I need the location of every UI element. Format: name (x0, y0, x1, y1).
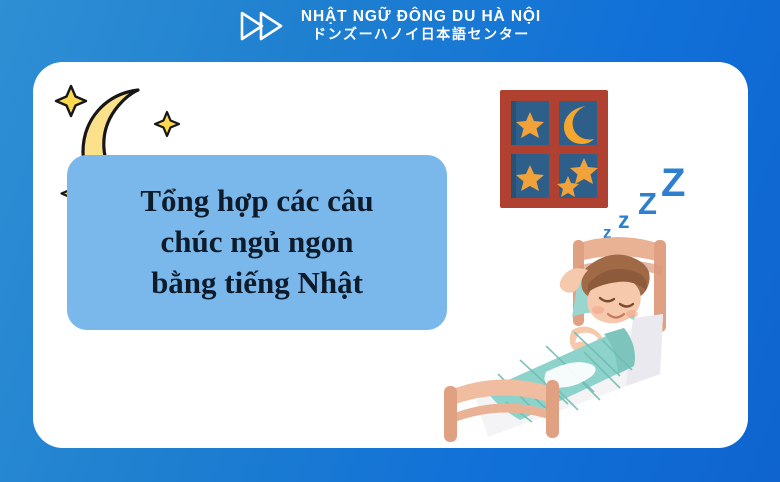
zzz-letter: Z (638, 186, 657, 221)
title-line-2: chúc ngủ ngon (161, 222, 354, 263)
brand-inner: NHẬT NGỮ ĐÔNG DU HÀ NỘI ドンズーハノイ日本語センター (239, 8, 541, 43)
brand-text-block: NHẬT NGỮ ĐÔNG DU HÀ NỘI ドンズーハノイ日本語センター (301, 9, 541, 43)
pane-shadow (511, 101, 516, 145)
child-sleeping-in-bed-illustration (428, 222, 688, 447)
banner-root: NHẬT NGỮ ĐÔNG DU HÀ NỘI ドンズーハノイ日本語センター (0, 0, 780, 482)
child-blush (626, 310, 638, 318)
content-card: z z Z Z (33, 62, 748, 448)
brand-name-vi: NHẬT NGỮ ĐÔNG DU HÀ NỘI (301, 9, 541, 25)
title-line-1: Tổng hợp các câu (140, 181, 373, 222)
pane-shadow (511, 154, 516, 198)
brand-header: NHẬT NGỮ ĐÔNG DU HÀ NỘI ドンズーハノイ日本語センター (0, 0, 780, 60)
sparkle-icon (155, 112, 179, 136)
sparkle-icon (56, 86, 86, 116)
brand-name-ja: ドンズーハノイ日本語センター (312, 28, 530, 42)
child-blush (592, 306, 604, 314)
zzz-letter: Z (661, 166, 685, 205)
title-line-3: bằng tiếng Nhật (151, 263, 363, 304)
double-chevron-play-icon (239, 9, 291, 43)
night-window-icon (498, 88, 610, 210)
bed-footboard (444, 379, 559, 442)
title-banner: Tổng hợp các câu chúc ngủ ngon bằng tiến… (67, 155, 447, 330)
